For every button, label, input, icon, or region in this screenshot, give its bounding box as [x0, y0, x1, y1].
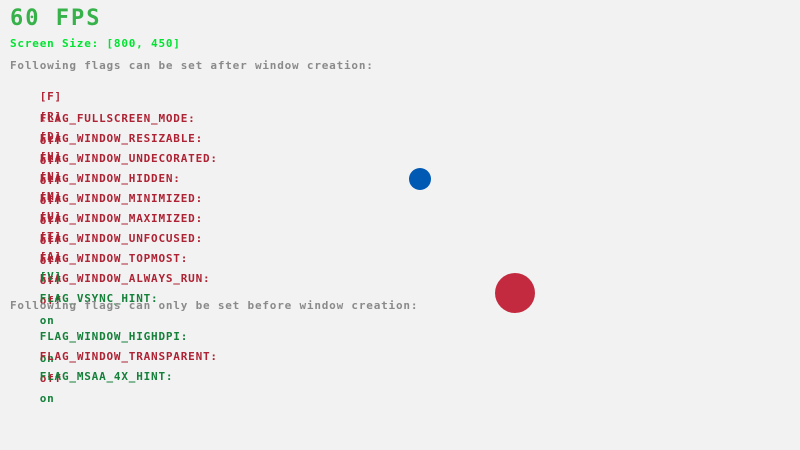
flag-name: FLAG_MSAA_4X_HINT: [40, 370, 174, 383]
heading-flags-after-creation: Following flags can be set after window … [10, 60, 374, 71]
blue-ball-shape [409, 168, 431, 190]
screen-size-label: Screen Size: [800, 450] [10, 38, 181, 49]
red-ball-shape [495, 273, 535, 313]
app-window: 60 FPS Screen Size: [800, 450] Following… [0, 0, 800, 450]
flag-row-msaa-4x-hint: FLAG_MSAA_4X_HINT: on [10, 360, 173, 415]
fps-counter: 60 FPS [10, 8, 101, 30]
heading-flags-before-creation: Following flags can only be set before w… [10, 300, 418, 311]
flag-value: on [40, 392, 55, 405]
